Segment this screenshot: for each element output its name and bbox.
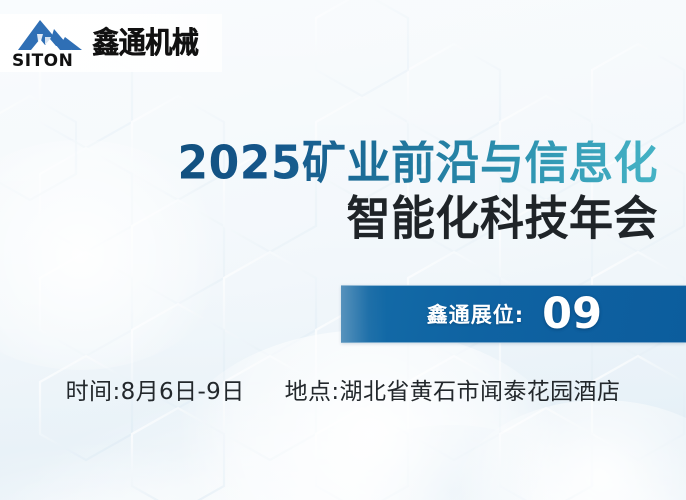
brand-logo: SITON 鑫通机械 xyxy=(0,14,222,72)
event-headline: 2025矿业前沿与信息化 智能化科技年会 xyxy=(178,143,658,243)
light-blob-center xyxy=(170,330,570,500)
brand-chinese-name: 鑫通机械 xyxy=(92,28,198,58)
headline-line-2: 智能化科技年会 xyxy=(178,196,658,243)
event-date: 时间:8月6日-9日 xyxy=(66,372,245,406)
siton-mountain-icon: SITON xyxy=(10,17,88,69)
booth-label: 鑫通展位: xyxy=(427,299,524,329)
hexagon-pattern-decoration xyxy=(0,0,686,500)
event-details: 时间:8月6日-9日 地点:湖北省黄石市闻泰花园酒店 xyxy=(0,372,686,406)
poster-canvas: SITON 鑫通机械 2025矿业前沿与信息化 智能化科技年会 鑫通展位: 09… xyxy=(0,0,686,500)
headline-line-1: 2025矿业前沿与信息化 xyxy=(178,140,658,187)
siton-wordmark: SITON xyxy=(12,51,73,69)
light-blob-tint xyxy=(336,425,566,500)
light-blob-right xyxy=(456,400,686,500)
booth-number: 09 xyxy=(542,293,602,336)
event-venue: 地点:湖北省黄石市闻泰花园酒店 xyxy=(285,372,621,406)
booth-number-banner: 鑫通展位: 09 xyxy=(341,285,686,343)
